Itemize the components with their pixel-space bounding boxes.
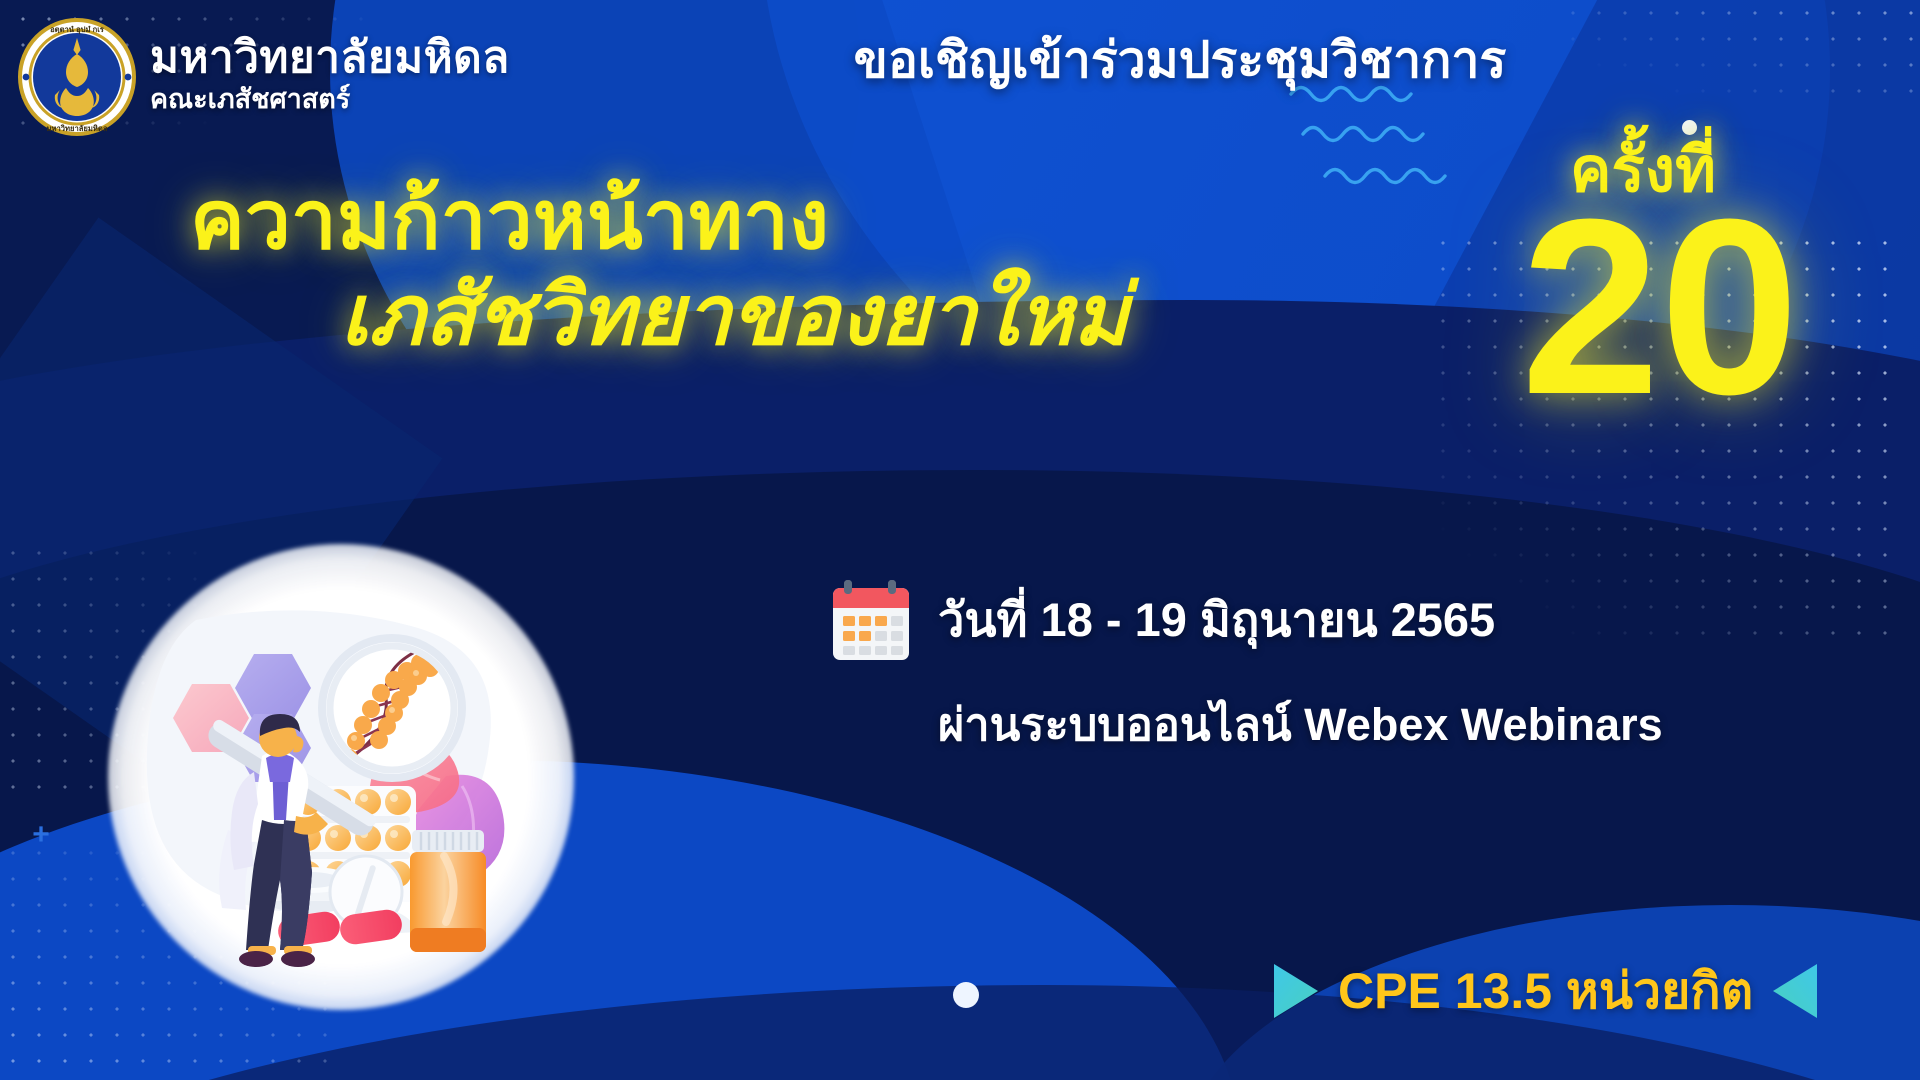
cpe-credits-bar: CPE 13.5 หน่วยกิต (1270, 960, 1821, 1022)
brand-logo-block: อตฺตานํ อุปมํ กเร มหาวิทยาลัยมหิดล มหาวิ… (18, 18, 510, 136)
conference-poster: + อตฺตานํ อุปมํ กเร (0, 0, 1920, 1080)
title-line-1: ความก้าวหน้าทาง (150, 178, 1270, 265)
invite-heading: ขอเชิญเข้าร่วมประชุมวิชาการ (700, 30, 1660, 90)
university-name: มหาวิทยาลัยมหิดล (150, 35, 510, 81)
edition-badge: ครั้งที่ 20 (1470, 140, 1890, 422)
cpe-credits-text: CPE 13.5 หน่วยกิต (1338, 966, 1753, 1016)
illustration-artwork (144, 580, 538, 974)
event-details: วันที่ 18 - 19 มิถุนายน 2565 ผ่านระบบออน… (830, 578, 1663, 760)
event-date-row: วันที่ 18 - 19 มิถุนายน 2565 (830, 578, 1663, 662)
title-line-2: เภสัชวิทยาของยาใหม่ (150, 271, 1270, 360)
white-dot-icon-bottom (953, 982, 979, 1008)
pharmacology-research-illustration (108, 544, 574, 1010)
edition-number: 20 (1430, 192, 1890, 422)
triangle-right-icon (1270, 960, 1322, 1022)
calendar-icon (830, 578, 912, 662)
event-platform: ผ่านระบบออนไลน์ Webex Webinars (938, 688, 1663, 760)
svg-text:มหาวิทยาลัยมหิดล: มหาวิทยาลัยมหิดล (47, 124, 108, 133)
svg-text:อตฺตานํ อุปมํ กเร: อตฺตานํ อุปมํ กเร (50, 25, 105, 35)
mahidol-university-emblem-icon: อตฺตานํ อุปมํ กเร มหาวิทยาลัยมหิดล (18, 18, 136, 136)
faculty-name: คณะเภสัชศาสตร์ (150, 85, 510, 113)
white-dot-icon-top (1682, 120, 1697, 135)
event-date: วันที่ 18 - 19 มิถุนายน 2565 (938, 594, 1495, 646)
triangle-left-icon (1769, 960, 1821, 1022)
plus-icon: + (28, 822, 54, 848)
page-title: ความก้าวหน้าทาง เภสัชวิทยาของยาใหม่ (150, 178, 1270, 360)
